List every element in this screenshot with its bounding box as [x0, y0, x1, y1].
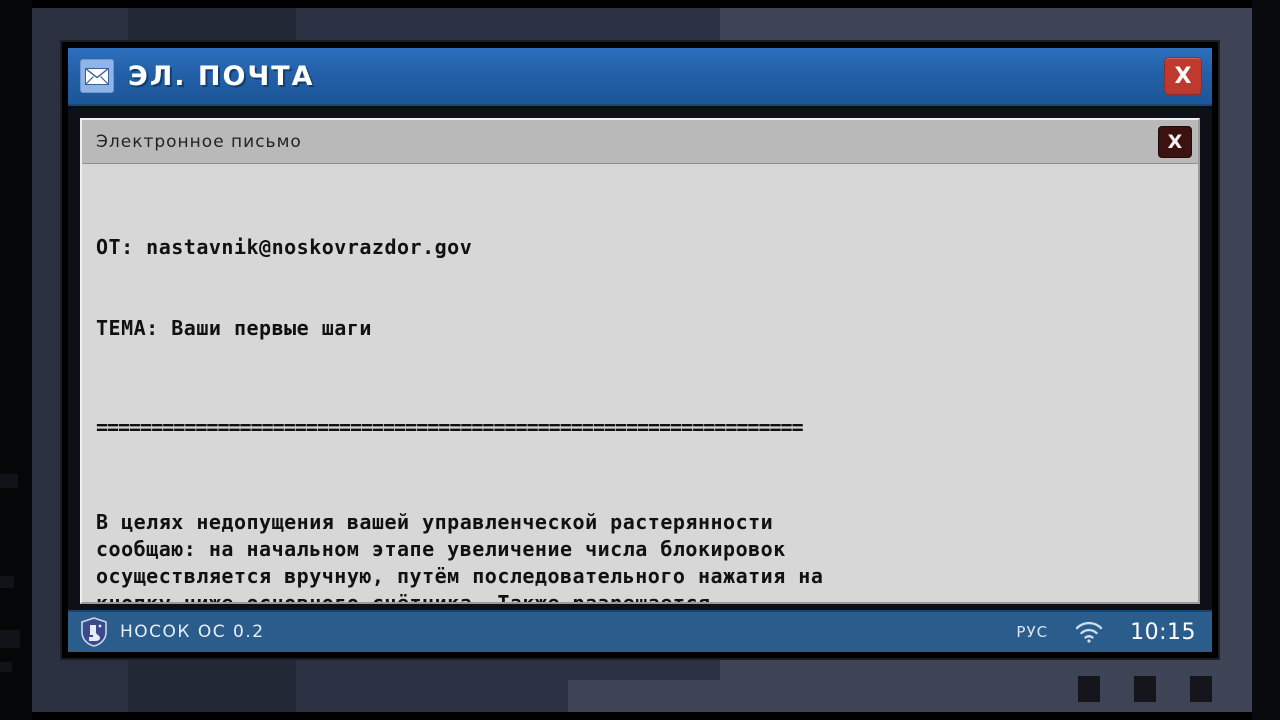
- email-from-line: ОТ: nastavnik@noskovrazdor.gov: [96, 234, 1182, 261]
- email-body: ОТ: nastavnik@noskovrazdor.gov ТЕМА: Ваш…: [82, 164, 1198, 602]
- wall-detail-4: [0, 662, 12, 672]
- screen-edge-bottom: [0, 712, 1280, 720]
- window-close-button[interactable]: X: [1164, 57, 1202, 95]
- window-titlebar: ЭЛ. ПОЧТА X: [68, 48, 1212, 106]
- email-panel: Электронное письмо X ОТ: nastavnik@nosko…: [80, 118, 1200, 604]
- email-subject-label: ТЕМА:: [96, 316, 159, 340]
- email-close-button[interactable]: X: [1158, 126, 1192, 158]
- email-from-value: nastavnik@noskovrazdor.gov: [146, 235, 472, 259]
- window-client-area: Электронное письмо X ОТ: nastavnik@nosko…: [68, 108, 1212, 610]
- email-app-window: ЭЛ. ПОЧТА X Электронное письмо X ОТ: nas…: [62, 42, 1218, 658]
- email-subject-value: Ваши первые шаги: [171, 316, 372, 340]
- desk-object-1: [1078, 676, 1100, 702]
- screen-edge-top: [0, 0, 1280, 8]
- email-paragraph-1: В целях недопущения вашей управленческой…: [96, 509, 1182, 602]
- email-panel-header: Электронное письмо X: [82, 120, 1198, 164]
- desk-object-3: [1190, 676, 1212, 702]
- screen-edge-right: [1252, 0, 1280, 720]
- screen-edge-left: [0, 0, 32, 720]
- email-subject-line: ТЕМА: Ваши первые шаги: [96, 315, 1182, 342]
- email-separator: ========================================…: [96, 414, 1182, 441]
- os-name-label: НОСОК ОС 0.2: [120, 622, 265, 642]
- wall-detail-3: [0, 630, 20, 648]
- statusbar-tray: РУС 10:15: [1016, 620, 1196, 645]
- shield-sock-icon: [80, 617, 108, 647]
- desk-object-2: [1134, 676, 1156, 702]
- window-title: ЭЛ. ПОЧТА: [128, 61, 315, 92]
- email-panel-title: Электронное письмо: [96, 132, 302, 152]
- wall-detail-2: [0, 576, 14, 588]
- wifi-icon[interactable]: [1074, 621, 1104, 643]
- mail-envelope-icon: [80, 59, 114, 93]
- wall-detail-1: [0, 474, 18, 488]
- os-statusbar: НОСОК ОС 0.2 РУС 10:15: [68, 610, 1212, 652]
- email-from-label: ОТ:: [96, 235, 134, 259]
- clock-label: 10:15: [1130, 620, 1196, 645]
- os-badge: НОСОК ОС 0.2: [80, 617, 265, 647]
- language-indicator[interactable]: РУС: [1016, 623, 1048, 641]
